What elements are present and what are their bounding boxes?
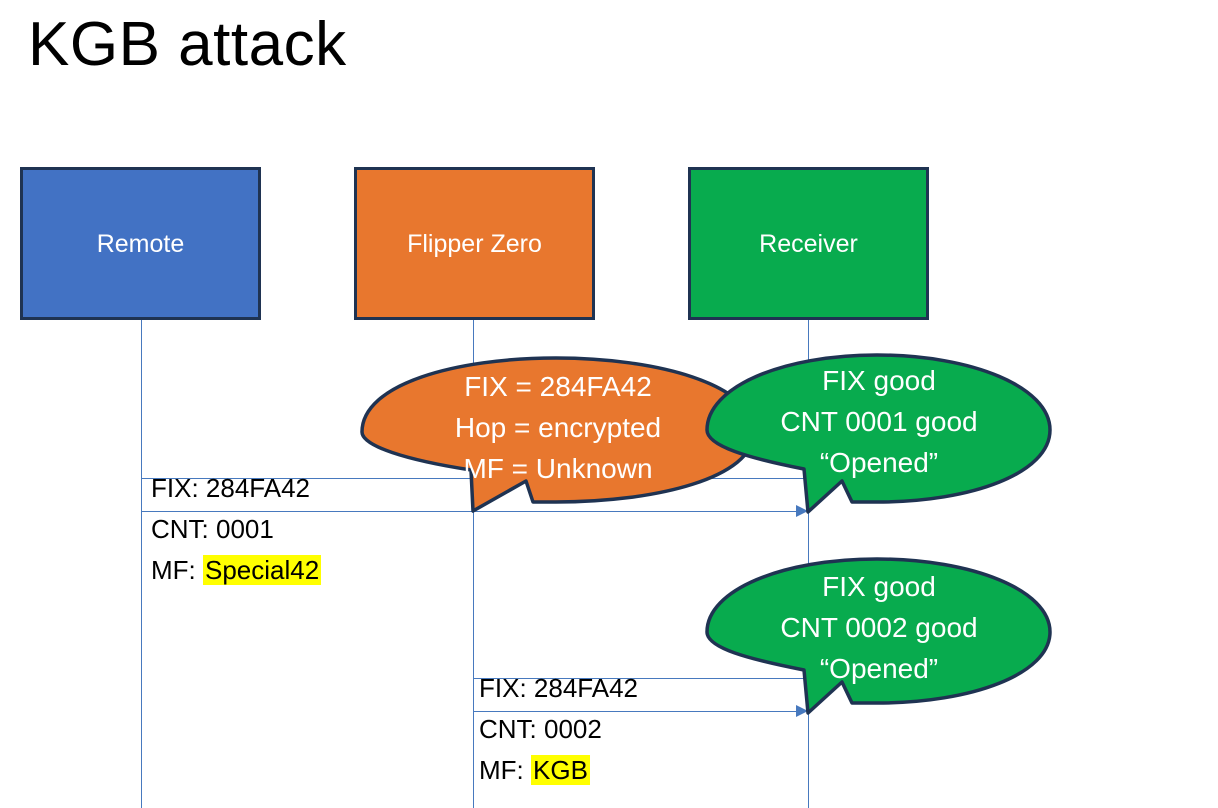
actor-label-receiver: Receiver bbox=[759, 229, 858, 259]
message-1-line-2: CNT: 0001 bbox=[151, 509, 321, 550]
message-2-line-2-label: CNT: bbox=[479, 714, 544, 744]
message-1-line-1-label: FIX: bbox=[151, 473, 206, 503]
message-2-line-2: CNT: 0002 bbox=[479, 709, 638, 750]
message-2-line-1-value: 284FA42 bbox=[534, 673, 638, 703]
callout-receiver-cnt-0001[interactable]: FIX good CNT 0001 good “Opened” bbox=[704, 350, 1054, 515]
message-1-line-3-value-highlighted: Special42 bbox=[203, 555, 321, 585]
message-1-line-3-label: MF: bbox=[151, 555, 203, 585]
callout-receiver-cnt-0002[interactable]: FIX good CNT 0002 good “Opened” bbox=[704, 554, 1054, 716]
message-1-labels: FIX: 284FA42 CNT: 0001 MF: Special42 bbox=[151, 468, 321, 591]
message-1-line-1-value: 284FA42 bbox=[206, 473, 310, 503]
page-title: KGB attack bbox=[28, 8, 347, 82]
message-2-line-3: MF: KGB bbox=[479, 750, 638, 791]
lifeline-remote bbox=[141, 320, 142, 808]
slide-canvas: KGB attack Remote Flipper Zero Receiver … bbox=[0, 0, 1218, 808]
message-2-line-3-label: MF: bbox=[479, 755, 531, 785]
message-1-line-2-value: 0001 bbox=[216, 514, 274, 544]
message-2-line-3-value-highlighted: KGB bbox=[531, 755, 590, 785]
message-1-line-3: MF: Special42 bbox=[151, 550, 321, 591]
actor-box-receiver[interactable]: Receiver bbox=[688, 167, 929, 320]
actor-box-remote[interactable]: Remote bbox=[20, 167, 261, 320]
message-1-line-2-label: CNT: bbox=[151, 514, 216, 544]
actor-box-flipper[interactable]: Flipper Zero bbox=[354, 167, 595, 320]
message-1-line-1: FIX: 284FA42 bbox=[151, 468, 321, 509]
message-2-line-1: FIX: 284FA42 bbox=[479, 668, 638, 709]
actor-label-flipper: Flipper Zero bbox=[407, 229, 542, 259]
message-2-labels: FIX: 284FA42 CNT: 0002 MF: KGB bbox=[479, 668, 638, 791]
message-2-line-1-label: FIX: bbox=[479, 673, 534, 703]
message-2-line-2-value: 0002 bbox=[544, 714, 602, 744]
callout-flipper-zero[interactable]: FIX = 284FA42 Hop = encrypted MF = Unkno… bbox=[358, 352, 758, 517]
actor-label-remote: Remote bbox=[97, 229, 185, 259]
